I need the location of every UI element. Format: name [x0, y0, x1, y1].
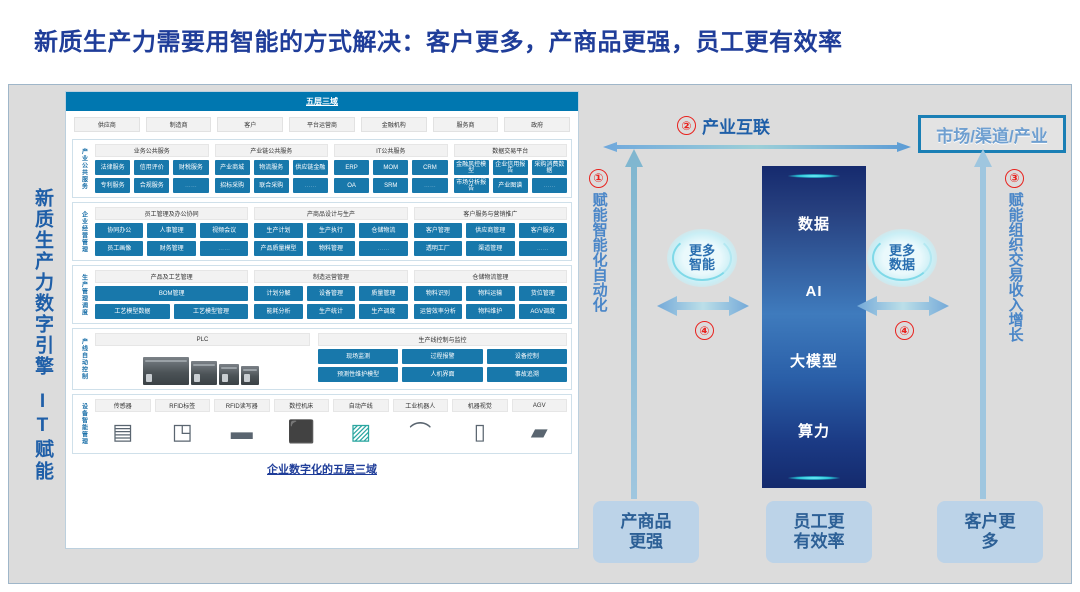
marker-2: ② [677, 116, 696, 135]
device-label: AGV [512, 399, 568, 412]
device-item[interactable]: 自动产线 ▨ [333, 399, 389, 449]
tile-row: 客户管理 供应商管理 客户服务 [414, 223, 567, 238]
group-header: PLC [95, 333, 310, 346]
enable-automation-text: 赋能智能化自动化 [590, 192, 606, 312]
device-label: 工业机器人 [393, 399, 449, 412]
tile-row: 计划分解 设备管理 质量管理 [254, 286, 407, 301]
bubble-left-line2: 智能 [689, 257, 715, 272]
slide-root: 新质生产力需要用智能的方式解决：客户更多，产商品更强，员工更有效率 新质生产力数… [0, 0, 1080, 592]
band-label: 产线自动控制 [73, 333, 95, 385]
more-intelligence-bubble: 更多 智能 [667, 229, 737, 287]
service-tile[interactable]: 财税服务 [173, 160, 208, 175]
service-tile[interactable]: 生产执行 [307, 223, 355, 238]
left-exchange-arrow [657, 295, 749, 317]
service-tile-more[interactable]: …… [412, 178, 447, 193]
engine-vertical-label: 新质生产力数字引擎 IT赋能 [19, 160, 65, 510]
service-tile[interactable]: 质量管理 [359, 286, 407, 301]
device-item[interactable]: 工业机器人 ⌒ [393, 399, 449, 449]
device-item[interactable]: 传感器 ▤ [95, 399, 151, 449]
bubble-right-line1: 更多 [889, 243, 915, 258]
marker-4-left: ④ [695, 321, 714, 340]
tile-row: 物料识别 物料运输 货位管理 [414, 286, 567, 301]
device-band: 设备智能管理 传感器 ▤ RFID标签 ◳ RFID读写器 ▬ [72, 394, 572, 454]
service-tile-more[interactable]: …… [293, 178, 328, 193]
device-label: RFID读写器 [214, 399, 270, 412]
service-tile[interactable]: 物料识别 [414, 286, 462, 301]
tile-row: OA SRM …… [334, 178, 448, 193]
service-tile[interactable]: 专利服务 [95, 178, 130, 193]
plc-group: PLC [95, 333, 310, 385]
industry-interconnect-label: ② 产业互联 [677, 113, 770, 138]
tile-group: 产商品设计与生产 生产计划 生产执行 仓储物流 产品质量模型 物料管理 …… [254, 207, 407, 256]
outcome-box-employees[interactable]: 员工更 有效率 [766, 501, 872, 563]
outcome-box-customers[interactable]: 客户更 多 [937, 501, 1043, 563]
service-tile[interactable]: 预测性维护模型 [318, 367, 398, 382]
tile-row: 专利服务 合规服务 …… [95, 178, 209, 193]
group-header: 产品及工艺管理 [95, 270, 248, 283]
five-layer-panel: 五层三域 供应商 制造商 客户 平台运营商 金融机构 服务商 政府 产业公共服务… [65, 91, 579, 549]
glow-top-icon [788, 174, 840, 178]
service-tile[interactable]: 过程报警 [402, 349, 482, 364]
actor-chip[interactable]: 政府 [504, 117, 570, 132]
service-tile[interactable]: 物料维护 [466, 304, 514, 319]
service-tile[interactable]: 物料运输 [466, 286, 514, 301]
ai-stack-item-compute: 算力 [798, 420, 830, 441]
service-tile[interactable]: 人机界面 [402, 367, 482, 382]
tile-group: 员工管理及办公协同 协同办公 人事管理 视频会议 员工画像 财务管理 …… [95, 207, 248, 256]
ai-stack-item-ai: AI [806, 283, 823, 300]
tile-group: 产业链公共服务 产业商城 物流服务 供应链金融 招标采购 联合采购 …… [215, 144, 329, 193]
rfid-reader-icon: ▬ [214, 415, 270, 449]
layer-band: 生产管理调度 产品及工艺管理 BOM管理 工艺模型数据 工艺模型管理 制造运营管 [72, 265, 572, 324]
agv-icon: ▰ [512, 415, 568, 449]
cnc-machine-icon: ⬛ [274, 415, 330, 449]
service-tile[interactable]: 企业信用报告 [493, 160, 528, 175]
industry-double-arrow [603, 139, 911, 149]
service-tile[interactable]: 事故追溯 [487, 367, 567, 382]
left-up-arrow [625, 149, 643, 499]
service-tile[interactable]: 法律服务 [95, 160, 130, 175]
band-body: 业务公共服务 法律服务 信用评价 财税服务 专利服务 合规服务 …… [95, 144, 567, 193]
actor-row: 供应商 制造商 客户 平台运营商 金融机构 服务商 政府 [66, 111, 578, 139]
service-tile[interactable]: 员工画像 [95, 241, 143, 256]
ai-stack-item-data: 数据 [798, 213, 830, 234]
tile-group: 制造运营管理 计划分解 设备管理 质量管理 能耗分析 生产统计 生产调度 [254, 270, 407, 319]
engine-label-main: 新质生产力数字引擎 [32, 188, 52, 377]
enable-automation-label: ① 赋能智能化自动化 [589, 169, 608, 312]
band-body: 产品及工艺管理 BOM管理 工艺模型数据 工艺模型管理 制造运营管理 计划分解 [95, 270, 567, 319]
plc-photo [95, 349, 310, 385]
layer-band: 产业公共服务 业务公共服务 法律服务 信用评价 财税服务 专利服务 合规服务 …… [72, 139, 572, 198]
glow-bottom-icon [788, 476, 840, 480]
service-tile[interactable]: 货位管理 [519, 286, 567, 301]
service-tile[interactable]: 工艺模型管理 [174, 304, 249, 319]
tile-row: 能耗分析 生产统计 生产调度 [254, 304, 407, 319]
robot-arm-icon: ⌒ [393, 415, 449, 449]
five-layer-header: 五层三域 [66, 92, 578, 111]
device-label: 传感器 [95, 399, 151, 412]
group-header: 仓储物流管理 [414, 270, 567, 283]
outcome-3-line2: 多 [982, 532, 999, 551]
page-title: 新质生产力需要用智能的方式解决：客户更多，产商品更强，员工更有效率 [34, 22, 843, 57]
service-tile[interactable]: ERP [334, 160, 369, 175]
device-item[interactable]: RFID读写器 ▬ [214, 399, 270, 449]
tile-row: 生产计划 生产执行 仓储物流 [254, 223, 407, 238]
enable-revenue-text: 赋能组织交易收入增长 [1006, 192, 1022, 342]
service-tile[interactable]: 物料管理 [307, 241, 355, 256]
bubble-right-line2: 数据 [889, 257, 915, 272]
actor-chip[interactable]: 制造商 [146, 117, 212, 132]
tile-row: BOM管理 [95, 286, 248, 301]
device-item[interactable]: 机器视觉 ▯ [452, 399, 508, 449]
value-loop-panel: ② 产业互联 市场/渠道/产业 ① 赋能智能化自动化 [585, 91, 1067, 579]
tile-row: 产业商城 物流服务 供应链金融 [215, 160, 329, 175]
marker-3: ③ [1005, 169, 1024, 188]
service-tile-more[interactable]: …… [173, 178, 208, 193]
tile-group: 产品及工艺管理 BOM管理 工艺模型数据 工艺模型管理 [95, 270, 248, 319]
service-tile[interactable]: 视频会议 [200, 223, 248, 238]
production-line-icon: ▨ [333, 415, 389, 449]
band-label: 生产管理调度 [73, 270, 95, 319]
ai-stack-item-model: 大模型 [790, 350, 838, 371]
service-tile[interactable]: 市场分析报告 [454, 178, 489, 193]
service-tile-more[interactable]: …… [532, 178, 567, 193]
service-tile[interactable]: 采购消费数据 [532, 160, 567, 175]
band-body: 传感器 ▤ RFID标签 ◳ RFID读写器 ▬ 数控机床 ⬛ [95, 399, 567, 449]
band-label: 产业公共服务 [73, 144, 95, 193]
group-header: 业务公共服务 [95, 144, 209, 157]
engine-label-sub: IT赋能 [32, 391, 52, 483]
tile-row: 现场监测 过程报警 设备控制 [318, 349, 567, 364]
group-header: 客户服务与营销推广 [414, 207, 567, 220]
enable-revenue-label: ③ 赋能组织交易收入增长 [1005, 169, 1024, 342]
device-label: 机器视觉 [452, 399, 508, 412]
outcome-2-line1: 员工更 [794, 512, 845, 531]
outcome-2-line2: 有效率 [794, 532, 845, 551]
marker-1: ① [589, 169, 608, 188]
service-tile[interactable]: 财务管理 [147, 241, 195, 256]
band-label: 设备智能管理 [73, 399, 95, 449]
actor-chip[interactable]: 供应商 [74, 117, 140, 132]
actor-chip[interactable]: 平台运营商 [289, 117, 355, 132]
right-up-arrow [974, 149, 992, 499]
service-tile-more[interactable]: …… [359, 241, 407, 256]
group-header: 数据交易平台 [454, 144, 568, 157]
group-header: 制造运营管理 [254, 270, 407, 283]
tile-row: 市场分析报告 产业图谱 …… [454, 178, 568, 193]
actor-chip[interactable]: 服务商 [433, 117, 499, 132]
service-tile[interactable]: 信用评价 [134, 160, 169, 175]
service-tile[interactable]: 计划分解 [254, 286, 302, 301]
industry-interconnect-text: 产业互联 [702, 113, 770, 138]
device-label: 数控机床 [274, 399, 330, 412]
service-tile[interactable]: 协同办公 [95, 223, 143, 238]
service-tile[interactable]: 招标采购 [215, 178, 250, 193]
tile-row: 预测性维护模型 人机界面 事故追溯 [318, 367, 567, 382]
outcome-3-line1: 客户更 [965, 512, 1016, 531]
service-tile[interactable]: 供应链金融 [293, 160, 328, 175]
more-data-bubble: 更多 数据 [867, 229, 937, 287]
service-tile[interactable]: 产品质量模型 [254, 241, 302, 256]
sensor-icon: ▤ [95, 415, 151, 449]
group-header: 员工管理及办公协同 [95, 207, 248, 220]
service-tile[interactable]: 产业商城 [215, 160, 250, 175]
right-exchange-arrow [857, 295, 949, 317]
service-tile-more[interactable]: …… [200, 241, 248, 256]
tile-row: 运营效率分析 物料维护 AGV调度 [414, 304, 567, 319]
service-tile[interactable]: OA [334, 178, 369, 193]
group-header: IT公共服务 [334, 144, 448, 157]
service-tile[interactable]: 金融风控模型 [454, 160, 489, 175]
service-tile[interactable]: AGV调度 [519, 304, 567, 319]
device-item[interactable]: RFID标签 ◳ [155, 399, 211, 449]
band-body: PLC 生产线控制与监控 现场 [95, 333, 567, 385]
service-tile[interactable]: 客户服务 [519, 223, 567, 238]
device-label: RFID标签 [155, 399, 211, 412]
marker-4-right: ④ [895, 321, 914, 340]
tile-group: 数据交易平台 金融风控模型 企业信用报告 采购消费数据 市场分析报告 产业图谱 … [454, 144, 568, 193]
service-tile[interactable]: 物流服务 [254, 160, 289, 175]
market-channel-industry-box[interactable]: 市场/渠道/产业 [918, 115, 1066, 153]
tile-row: 金融风控模型 企业信用报告 采购消费数据 [454, 160, 568, 175]
service-tile[interactable]: 设备控制 [487, 349, 567, 364]
group-header: 产业链公共服务 [215, 144, 329, 157]
service-tile[interactable]: 运营效率分析 [414, 304, 462, 319]
service-tile[interactable]: SRM [373, 178, 408, 193]
service-tile[interactable]: 设备管理 [307, 286, 355, 301]
tile-row: ERP MOM CRM [334, 160, 448, 175]
tile-group: IT公共服务 ERP MOM CRM OA SRM …… [334, 144, 448, 193]
service-tile[interactable]: 工艺模型数据 [95, 304, 170, 319]
service-tile[interactable]: 供应商管理 [466, 223, 514, 238]
ai-stack-column: 数据 AI 大模型 算力 [762, 166, 866, 488]
plc-band: 产线自动控制 PLC [72, 328, 572, 390]
service-tile[interactable]: 生产调度 [359, 304, 407, 319]
diagram-canvas: 新质生产力数字引擎 IT赋能 五层三域 供应商 制造商 客户 平台运营商 金融机… [8, 84, 1072, 584]
service-tile[interactable]: 生产统计 [307, 304, 355, 319]
service-tile[interactable]: MOM [373, 160, 408, 175]
service-tile[interactable]: 合规服务 [134, 178, 169, 193]
service-tile[interactable]: CRM [412, 160, 447, 175]
machine-vision-icon: ▯ [452, 415, 508, 449]
line-control-group: 生产线控制与监控 现场监测 过程报警 设备控制 预测性维护模型 人机界面 事故追… [318, 333, 567, 385]
tile-row: 产品质量模型 物料管理 …… [254, 241, 407, 256]
actor-chip[interactable]: 金融机构 [361, 117, 427, 132]
device-item[interactable]: AGV ▰ [512, 399, 568, 449]
service-tile[interactable]: 联合采购 [254, 178, 289, 193]
service-tile[interactable]: 人事管理 [147, 223, 195, 238]
service-tile-more[interactable]: …… [519, 241, 567, 256]
group-header: 生产线控制与监控 [318, 333, 567, 346]
service-tile[interactable]: 仓储物流 [359, 223, 407, 238]
tile-group: 仓储物流管理 物料识别 物料运输 货位管理 运营效率分析 物料维护 AGV调度 [414, 270, 567, 319]
five-layer-caption: 企业数字化的五层三域 [66, 456, 578, 477]
service-tile[interactable]: 产业图谱 [493, 178, 528, 193]
service-tile[interactable]: 渠道管理 [466, 241, 514, 256]
service-tile[interactable]: 生产计划 [254, 223, 302, 238]
tile-row: 工艺模型数据 工艺模型管理 [95, 304, 248, 319]
service-tile[interactable]: 现场监测 [318, 349, 398, 364]
tile-row: 协同办公 人事管理 视频会议 [95, 223, 248, 238]
service-tile[interactable]: 透明工厂 [414, 241, 462, 256]
service-tile[interactable]: 客户管理 [414, 223, 462, 238]
tile-row: 招标采购 联合采购 …… [215, 178, 329, 193]
tile-row: 法律服务 信用评价 财税服务 [95, 160, 209, 175]
outcome-box-products[interactable]: 产商品 更强 [593, 501, 699, 563]
band-body: 员工管理及办公协同 协同办公 人事管理 视频会议 员工画像 财务管理 …… [95, 207, 567, 256]
bubble-left-line1: 更多 [689, 243, 715, 258]
service-tile[interactable]: BOM管理 [95, 286, 248, 301]
outcome-1-line2: 更强 [629, 532, 663, 551]
tile-row: 员工画像 财务管理 …… [95, 241, 248, 256]
group-header: 产商品设计与生产 [254, 207, 407, 220]
service-tile[interactable]: 能耗分析 [254, 304, 302, 319]
actor-chip[interactable]: 客户 [217, 117, 283, 132]
tile-group: 业务公共服务 法律服务 信用评价 财税服务 专利服务 合规服务 …… [95, 144, 209, 193]
device-item[interactable]: 数控机床 ⬛ [274, 399, 330, 449]
device-label: 自动产线 [333, 399, 389, 412]
outcome-1-line1: 产商品 [621, 512, 672, 531]
tile-group: 客户服务与营销推广 客户管理 供应商管理 客户服务 透明工厂 渠道管理 …… [414, 207, 567, 256]
band-label: 企业经营管理 [73, 207, 95, 256]
layer-band: 企业经营管理 员工管理及办公协同 协同办公 人事管理 视频会议 员工画像 财务管… [72, 202, 572, 261]
tile-row: 透明工厂 渠道管理 …… [414, 241, 567, 256]
plc-device-icon [143, 351, 263, 385]
rfid-tag-icon: ◳ [155, 415, 211, 449]
